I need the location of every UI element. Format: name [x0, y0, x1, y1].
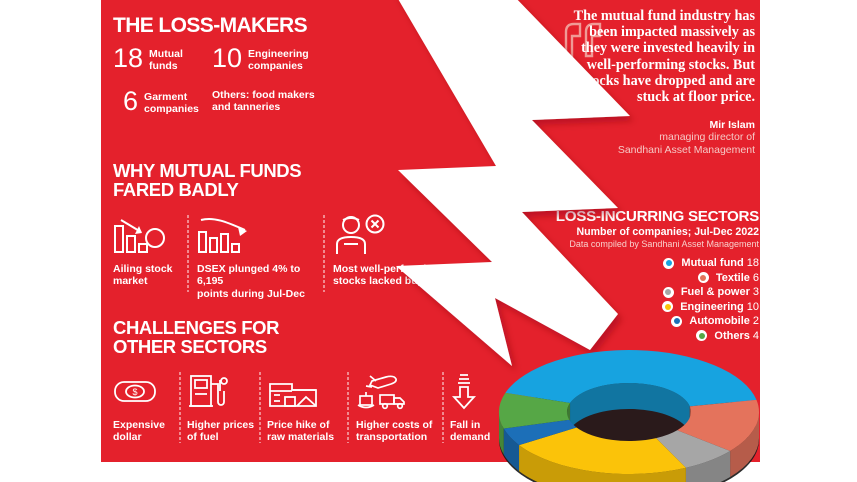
banknote-icon: $	[113, 371, 157, 411]
fuel-pump-icon	[187, 371, 233, 411]
dotted-divider	[179, 371, 181, 443]
legend-color-swatch-icon	[671, 316, 682, 327]
reason-ailing-stock-market: Ailing stockmarket	[113, 212, 183, 288]
legend-value: 18	[747, 257, 759, 269]
stat-value: 18	[113, 46, 143, 72]
reason-text: Ailing stockmarket	[113, 263, 183, 288]
legend-label: Mutual fund	[681, 257, 743, 269]
svg-text:$: $	[132, 387, 137, 397]
challenge-higher-fuel-prices: Higher pricesof fuel	[187, 371, 255, 444]
legend-label: Textile	[716, 272, 750, 284]
challenge-text: Higher pricesof fuel	[187, 419, 255, 444]
stat-mutual-funds: 18 Mutualfunds	[113, 46, 183, 73]
loss-incurring-sectors-donut-chart: Mutual fund 18Textile 6Fuel & power 3Eng…	[474, 338, 804, 482]
legend-label: Automobile	[689, 315, 750, 327]
dotted-divider	[187, 214, 189, 292]
infographic-canvas: THE LOSS-MAKERS 18 Mutualfunds 10 Engine…	[0, 0, 857, 482]
dotted-divider	[259, 371, 261, 443]
challenge-expensive-dollar: $ Expensivedollar	[113, 371, 177, 444]
legend-color-swatch-icon	[698, 272, 709, 283]
legend-value: 6	[753, 272, 759, 284]
challenge-text: Expensivedollar	[113, 419, 177, 444]
legend-color-swatch-icon	[663, 287, 674, 298]
legend-value: 2	[753, 315, 759, 327]
legend-label: Engineering	[680, 301, 744, 313]
stat-label: Mutualfunds	[149, 46, 183, 73]
stat-value: 6	[123, 89, 138, 115]
stat-engineering: 10 Engineeringcompanies	[212, 46, 309, 73]
legend-value: 10	[747, 301, 759, 313]
legend-value: 3	[753, 286, 759, 298]
legend-color-swatch-icon	[663, 258, 674, 269]
challenge-text: Price hike ofraw materials	[267, 419, 343, 444]
stat-garment: 6 Garmentcompanies	[123, 89, 199, 116]
declining-bar-chart-icon	[113, 212, 183, 256]
legend-label: Fuel & power	[681, 286, 750, 298]
stat-label: Garmentcompanies	[144, 89, 199, 116]
stat-value: 10	[212, 46, 242, 72]
challenge-text: Higher costs oftransportation	[356, 419, 438, 444]
legend-color-swatch-icon	[662, 301, 673, 312]
